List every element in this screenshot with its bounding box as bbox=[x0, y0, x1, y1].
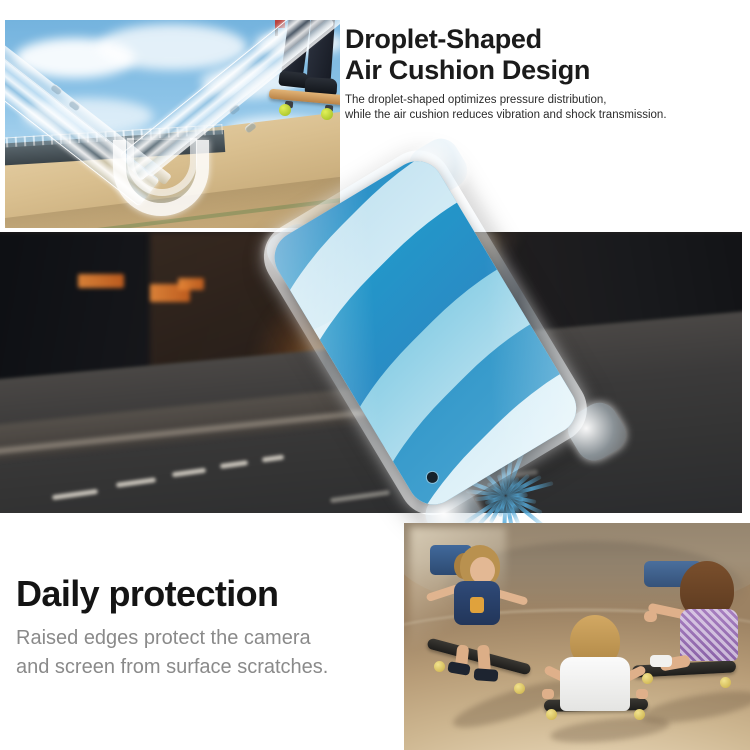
bottom-text-block: Daily protection Raised edges protect th… bbox=[16, 575, 400, 683]
bottom-subtitle-line2: and screen from surface scratches. bbox=[16, 653, 400, 683]
kid-standing-navy-tee bbox=[430, 545, 550, 675]
kid-tshirt bbox=[560, 657, 630, 711]
kid-hand bbox=[644, 611, 657, 622]
skateboard-wheel bbox=[514, 683, 525, 694]
bottom-title: Daily protection bbox=[16, 575, 400, 613]
kid-shoe bbox=[474, 668, 499, 682]
storefront-sign bbox=[78, 274, 124, 288]
header-title-line1: Droplet-Shaped bbox=[345, 24, 745, 55]
kid-sitting-white-tee bbox=[542, 615, 652, 723]
panel-kids-skateboarding bbox=[404, 523, 750, 750]
case-button-cutout bbox=[244, 121, 257, 133]
kid-face bbox=[470, 557, 495, 584]
kid-sitting-purple-top bbox=[644, 561, 750, 691]
storefront-sign bbox=[178, 278, 204, 290]
tshirt-graphic bbox=[470, 597, 484, 613]
header-subtitle: The droplet-shaped optimizes pressure di… bbox=[345, 93, 745, 125]
kid-hand bbox=[542, 689, 554, 699]
header-text-block: Droplet-Shaped Air Cushion Design The dr… bbox=[345, 24, 745, 124]
header-subtitle-line1: The droplet-shaped optimizes pressure di… bbox=[345, 93, 745, 109]
panel-flexed-case-skatepark bbox=[5, 20, 340, 228]
kid-shoe bbox=[650, 655, 672, 667]
bottom-subtitle-line1: Raised edges protect the camera bbox=[16, 624, 400, 654]
header-subtitle-line2: while the air cushion reduces vibration … bbox=[345, 108, 745, 124]
header-title-line2: Air Cushion Design bbox=[345, 55, 745, 86]
bottom-subtitle: Raised edges protect the camera and scre… bbox=[16, 624, 400, 683]
kid-tanktop bbox=[680, 609, 738, 661]
flexed-tpu-case bbox=[5, 20, 340, 228]
product-feature-collage: Droplet-Shaped Air Cushion Design The dr… bbox=[0, 0, 750, 750]
header-title: Droplet-Shaped Air Cushion Design bbox=[345, 24, 745, 86]
